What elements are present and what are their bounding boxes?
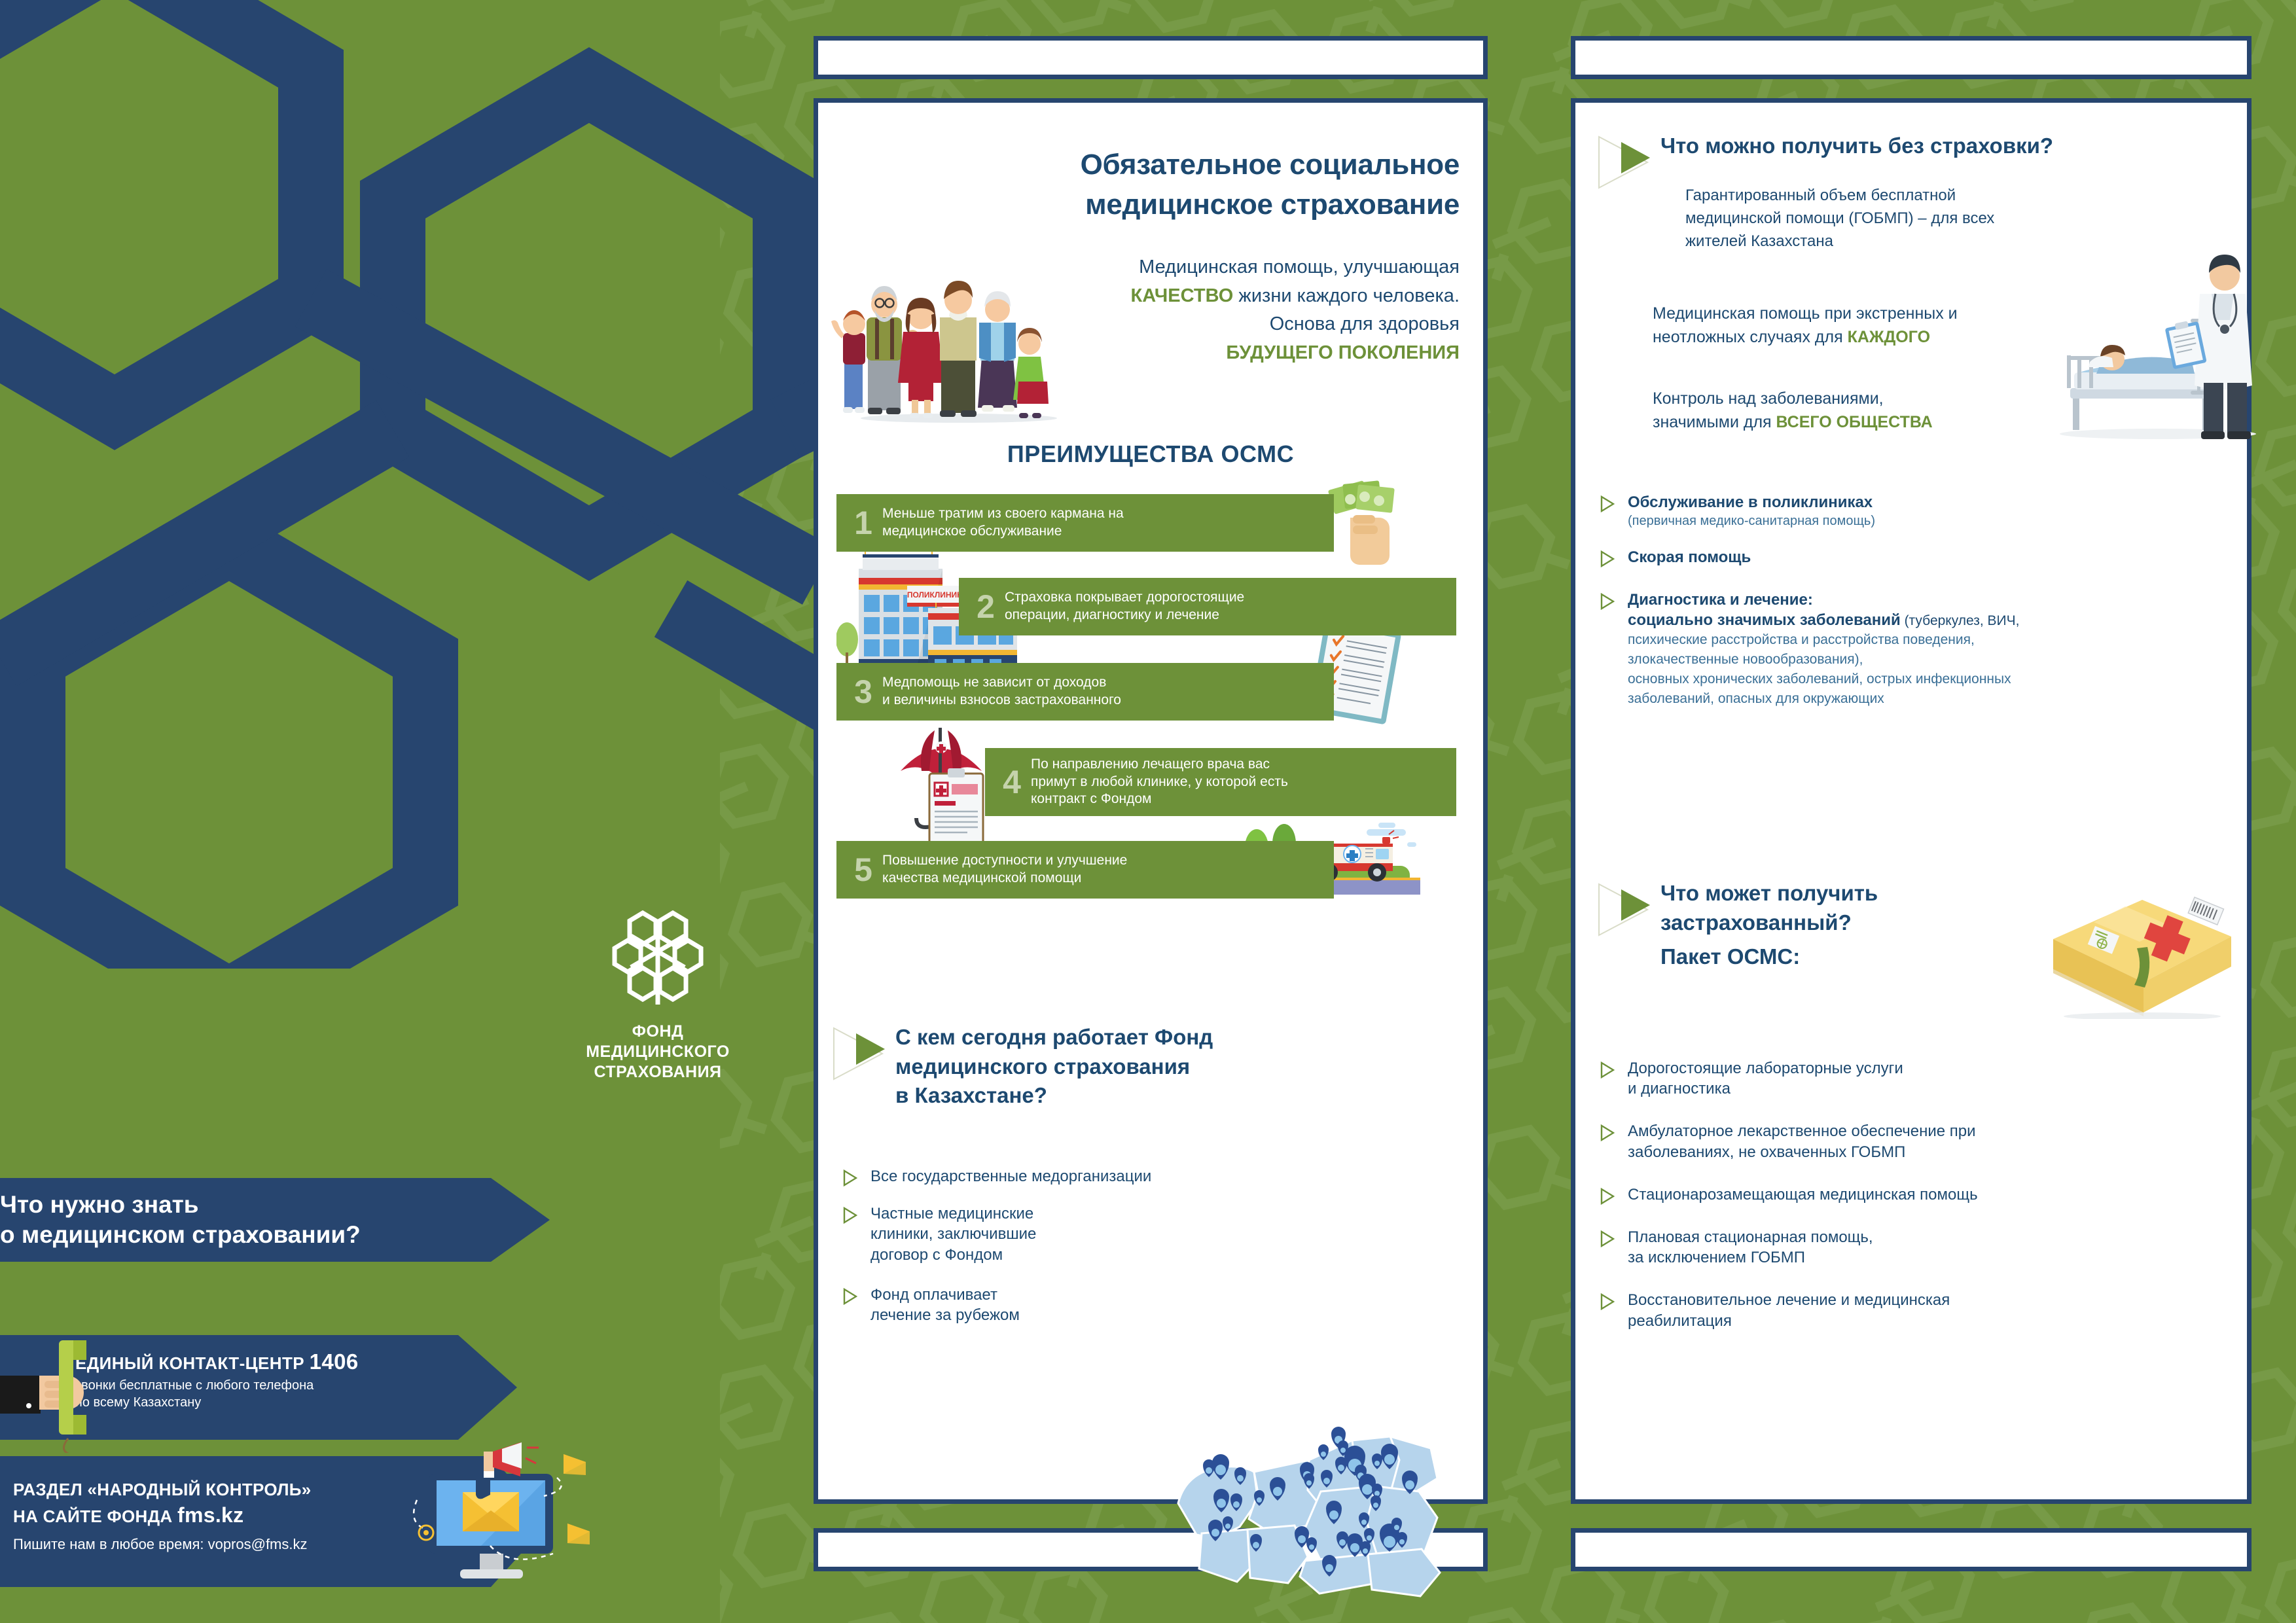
intro-highlight-generation: БУДУЩЕГО ПОКОЛЕНИЯ xyxy=(1041,339,1460,368)
benefit-row-4: 4 По направлению лечащего врача вас прим… xyxy=(985,748,1456,816)
list-item-label: Фонд оплачивает лечение за рубежом xyxy=(870,1285,1204,1325)
right-panel: Что можно получить без страховки? Гарант… xyxy=(1571,98,2251,1504)
list-item: Амбулаторное лекарственное обеспечение п… xyxy=(1595,1121,2223,1162)
logo-caption-line-1: ФОНД xyxy=(543,1022,772,1042)
benefit-number-5: 5 xyxy=(848,853,878,886)
benefit-text-1-line-2: медицинское обслуживание xyxy=(882,523,1124,541)
q2-title-line-1: Что может получить xyxy=(1660,879,1878,908)
contact-note-line-1: звонки бесплатные с любого телефона xyxy=(75,1377,517,1394)
triangle-bullet-icon xyxy=(1600,1230,1615,1247)
site-banner-line-2-prefix: НА САЙТЕ ФОНДА xyxy=(13,1507,173,1526)
play-triangle-icon xyxy=(1595,134,1651,190)
q1-highlight-everyone: КАЖДОГО xyxy=(1848,328,1930,346)
list-item: Частные медицинские клиники, заключившие… xyxy=(838,1204,1204,1265)
q1-paragraph-2: Медицинская помощь при экстренных и неот… xyxy=(1653,302,2045,349)
page-title: Обязательное социальное медицинское стра… xyxy=(1014,145,1460,224)
q1-paragraph-3-line-1: Контроль над заболеваниями, xyxy=(1653,387,2045,411)
contact-center-number: 1406 xyxy=(310,1349,359,1374)
list-item-label: Скорая помощь xyxy=(1628,547,2223,567)
list-item: Дорогостоящие лабораторные услуги и диаг… xyxy=(1595,1058,2223,1099)
background-logo-mark xyxy=(0,0,884,969)
fund-logo-icon xyxy=(609,906,707,1011)
benefit-text-2-line-1: Страховка покрывает дорогостоящие xyxy=(1005,589,1244,607)
site-domain[interactable]: fms.kz xyxy=(177,1503,243,1527)
list-item-label: Все государственные медорганизации xyxy=(870,1166,1204,1186)
list-item: Обслуживание в поликлиниках (первичная м… xyxy=(1595,492,2223,530)
doctor-patient-illustration xyxy=(2034,227,2256,443)
intro-line-2-rest: жизни каждого человека. xyxy=(1233,285,1460,306)
q1-paragraph-3-line-2-prefix: значимыми для xyxy=(1653,413,1776,431)
benefit-number-4: 4 xyxy=(997,766,1027,798)
benefit-text-2-line-2: операции, диагностику и лечение xyxy=(1005,607,1244,624)
triangle-bullet-icon xyxy=(1600,593,1615,610)
monitor-mail-megaphone-icon xyxy=(403,1440,612,1616)
triangle-bullet-icon xyxy=(1600,495,1615,512)
fund-logo-caption: ФОНД МЕДИЦИНСКОГО СТРАХОВАНИЯ xyxy=(543,1022,772,1082)
intro-line-3: Основа для здоровья xyxy=(1041,310,1460,339)
benefit-text-1-line-1: Меньше тратим из своего кармана на xyxy=(882,505,1124,523)
q1-paragraph-1-line-3: жителей Казахстана xyxy=(1685,230,2091,253)
list-item-label: Диагностика и лечение: xyxy=(1628,590,2223,610)
list-item-label: Частные медицинские клиники, заключившие… xyxy=(870,1204,1204,1265)
partners-question-line-2: медицинского страхования xyxy=(895,1052,1213,1082)
benefit-text-4-line-2: примут в любой клинике, у которой есть xyxy=(1031,774,1288,791)
list-item-label-bold: социально значимых заболеваний xyxy=(1628,611,1901,629)
kazakhstan-map-with-pins xyxy=(1172,1405,1466,1601)
play-triangle-icon xyxy=(830,1026,886,1082)
first-aid-parcel-illustration xyxy=(2027,888,2243,1019)
list-item-sublabel: психические расстройства и расстройства … xyxy=(1628,630,2223,708)
right-bottom-strip xyxy=(1571,1528,2251,1571)
list-item-label: Стационарозамещающая медицинская помощь xyxy=(1628,1185,2223,1205)
q1-highlight-society: ВСЕГО ОБЩЕСТВА xyxy=(1776,413,1933,431)
logo-caption-line-3: СТРАХОВАНИЯ xyxy=(543,1062,772,1082)
q1-paragraph-1-line-2: медицинской помощи (ГОБМП) – для всех xyxy=(1685,207,2091,230)
q2-subtitle: Пакет ОСМС: xyxy=(1660,942,1878,972)
list-item-label: Обслуживание в поликлиниках xyxy=(1628,492,2223,512)
triangle-bullet-icon xyxy=(1600,550,1615,567)
partners-question-line-3: в Казахстане? xyxy=(895,1081,1213,1111)
list-item-sublabel: (первичная медико-санитарная помощь) xyxy=(1628,512,2223,529)
benefit-text-4-line-3: контракт с Фондом xyxy=(1031,791,1288,808)
partners-bullet-list: Все государственные медорганизации Частн… xyxy=(838,1166,1204,1342)
page-title-line-1: Обязательное социальное xyxy=(1014,145,1460,185)
list-item: Стационарозамещающая медицинская помощь xyxy=(1595,1185,2223,1205)
fund-logo-block: ФОНД МЕДИЦИНСКОГО СТРАХОВАНИЯ xyxy=(543,906,772,1082)
intro-line-1: Медицинская помощь, улучшающая xyxy=(1139,257,1460,277)
know-banner-line-2: о медицинском страховании? xyxy=(0,1220,361,1250)
benefit-text-3-line-2: и величины взносов застрахованного xyxy=(882,692,1121,709)
intro-highlight-quality: КАЧЕСТВО xyxy=(1131,285,1234,306)
q1-bullet-list: Обслуживание в поликлиниках (первичная м… xyxy=(1595,492,2223,725)
benefit-row-2: 2 Страховка покрывает дорогостоящие опер… xyxy=(959,578,1456,635)
q1-title: Что можно получить без страховки? xyxy=(1660,132,2053,161)
triangle-bullet-icon xyxy=(1600,1293,1615,1310)
list-item: Фонд оплачивает лечение за рубежом xyxy=(838,1285,1204,1325)
benefit-row-3: 3 Медпомощь не зависит от доходов и вели… xyxy=(836,663,1334,721)
triangle-bullet-icon xyxy=(1600,1124,1615,1141)
partners-question-line-1: С кем сегодня работает Фонд xyxy=(895,1023,1213,1052)
know-banner: Что нужно знать о медицинском страховани… xyxy=(0,1178,550,1262)
benefit-number-1: 1 xyxy=(848,507,878,539)
list-item-label: Восстановительное лечение и медицинская … xyxy=(1628,1290,2223,1330)
q1-paragraph-2-line-2-prefix: неотложных случаях для xyxy=(1653,328,1848,346)
triangle-bullet-icon xyxy=(843,1169,857,1186)
benefit-row-1: 1 Меньше тратим из своего кармана на мед… xyxy=(836,494,1334,552)
benefits-section-title: ПРЕИМУЩЕСТВА ОСМС xyxy=(818,440,1483,468)
list-item: Скорая помощь xyxy=(1595,547,2223,567)
list-item: Восстановительное лечение и медицинская … xyxy=(1595,1290,2223,1330)
triangle-bullet-icon xyxy=(843,1288,857,1305)
know-banner-line-1: Что нужно знать xyxy=(0,1190,361,1220)
page-title-line-2: медицинское страхование xyxy=(1014,185,1460,225)
benefit-text-5-line-2: качества медицинской помощи xyxy=(882,870,1127,887)
play-triangle-icon xyxy=(1595,882,1651,938)
intro-paragraph: Медицинская помощь, улучшающая КАЧЕСТВО … xyxy=(1041,253,1460,367)
triangle-bullet-icon xyxy=(843,1207,857,1224)
middle-top-strip xyxy=(814,36,1488,79)
phone-handset-icon xyxy=(0,1329,118,1453)
q1-paragraph-1: Гарантированный объем бесплатной медицин… xyxy=(1685,185,2091,253)
list-item: Все государственные медорганизации xyxy=(838,1166,1204,1186)
list-item: Диагностика и лечение: социально значимы… xyxy=(1595,590,2223,709)
benefit-text-4-line-1: По направлению лечащего врача вас xyxy=(1031,756,1288,774)
q1-paragraph-2-line-1: Медицинская помощь при экстренных и xyxy=(1653,302,2045,326)
list-item-label: Амбулаторное лекарственное обеспечение п… xyxy=(1628,1121,2223,1162)
list-item-label: Плановая стационарная помощь, за исключе… xyxy=(1628,1227,2223,1268)
logo-caption-line-2: МЕДИЦИНСКОГО xyxy=(543,1042,772,1062)
list-item-label: Дорогостоящие лабораторные услуги и диаг… xyxy=(1628,1058,2223,1099)
benefit-row-5: 5 Повышение доступности и улучшение каче… xyxy=(836,841,1334,899)
triangle-bullet-icon xyxy=(1600,1188,1615,1205)
benefit-number-3: 3 xyxy=(848,675,878,708)
q1-paragraph-1-line-1: Гарантированный объем бесплатной xyxy=(1685,185,2091,207)
benefit-text-5-line-1: Повышение доступности и улучшение xyxy=(882,852,1127,870)
q1-paragraph-3: Контроль над заболеваниями, значимыми дл… xyxy=(1653,387,2045,434)
triangle-bullet-icon xyxy=(1600,1061,1615,1079)
contact-note-line-2: по всему Казахстану xyxy=(75,1394,517,1411)
middle-panel: Обязательное социальное медицинское стра… xyxy=(814,98,1488,1504)
list-item: Плановая стационарная помощь, за исключе… xyxy=(1595,1227,2223,1268)
q2-bullet-list: Дорогостоящие лабораторные услуги и диаг… xyxy=(1595,1058,2223,1348)
benefit-number-2: 2 xyxy=(971,590,1001,623)
benefit-text-3-line-1: Медпомощь не зависит от доходов xyxy=(882,674,1121,692)
right-top-strip xyxy=(1571,36,2251,79)
list-item-label-tail: (туберкулез, ВИЧ, xyxy=(1901,613,2020,628)
q2-title-line-2: застрахованный? xyxy=(1660,908,1878,938)
